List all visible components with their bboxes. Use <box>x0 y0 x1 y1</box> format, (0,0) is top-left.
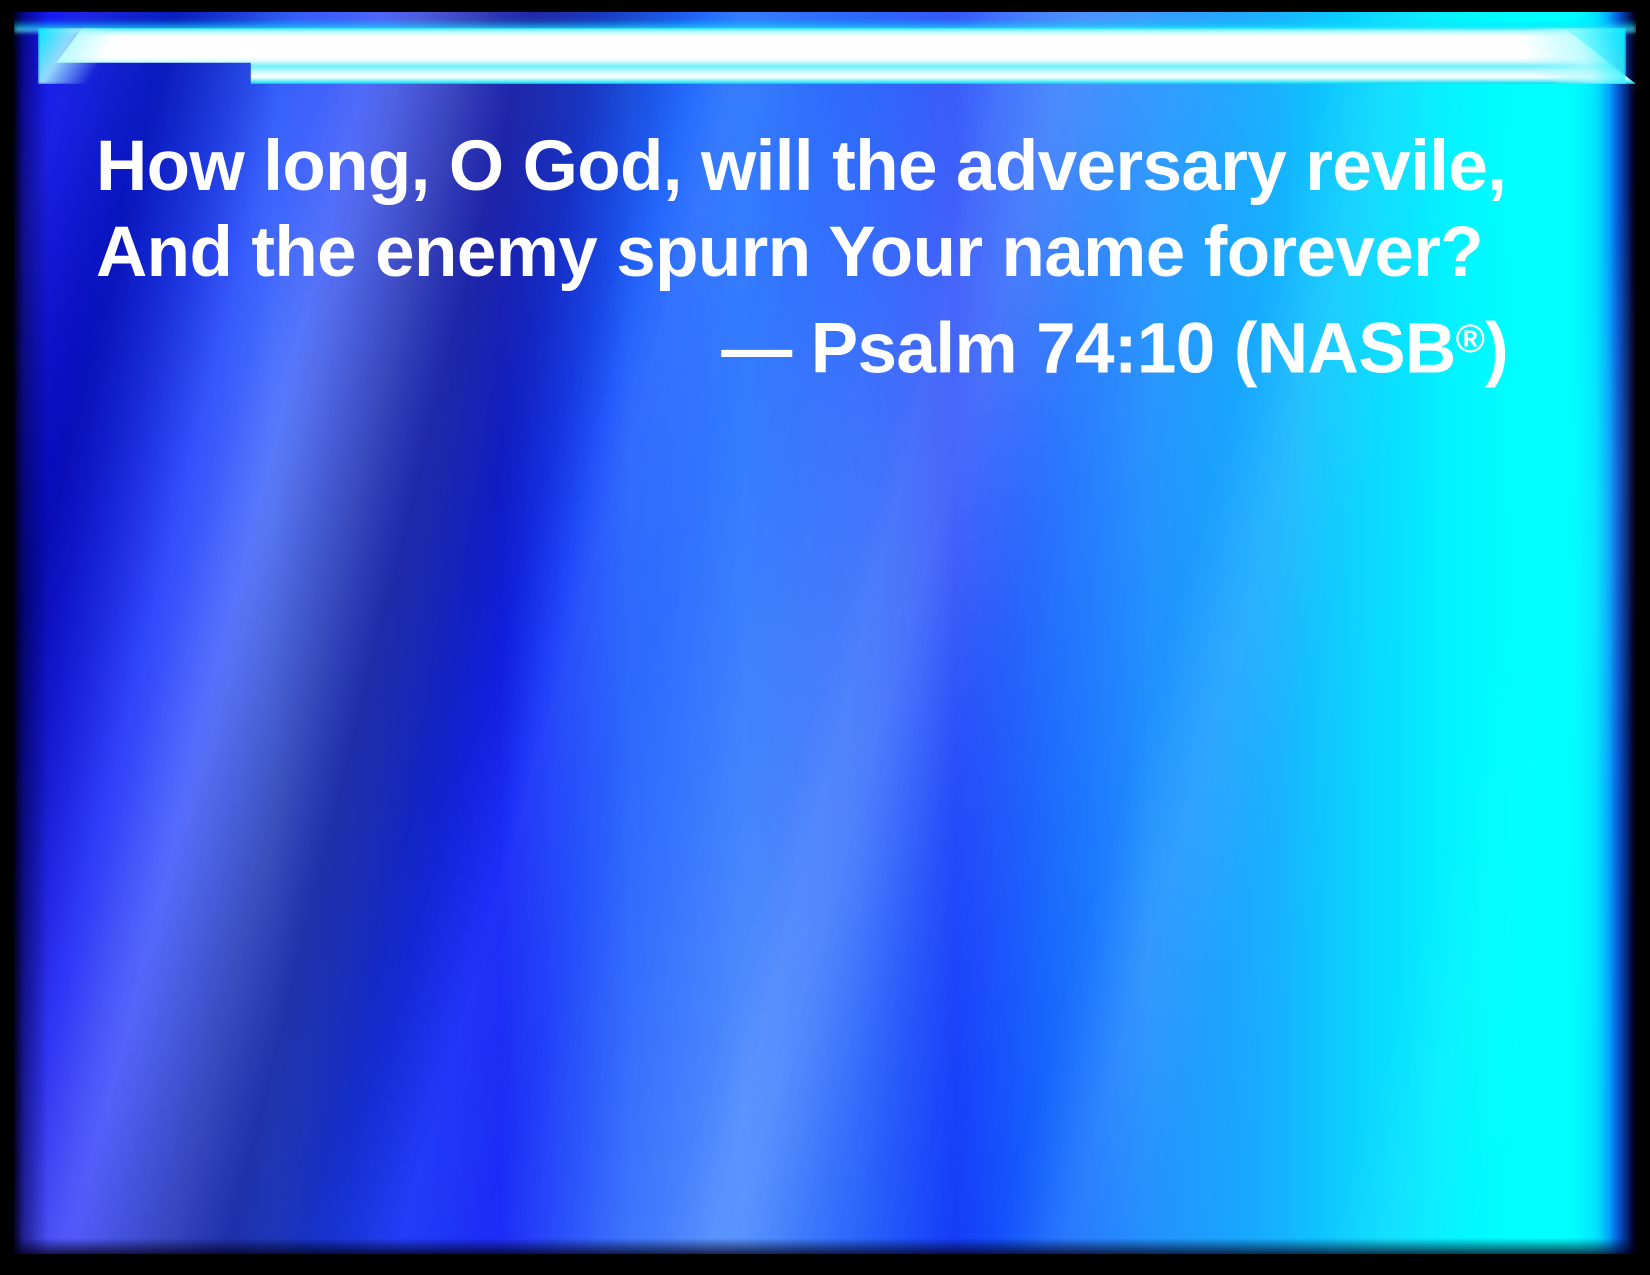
bible-verse-slide: How long, O God, will the adversary revi… <box>0 0 1650 1275</box>
verse-line-1: How long, O God, will the adversary revi… <box>96 124 1556 210</box>
citation-reference-text: — Psalm 74:10 (NASB <box>721 310 1455 389</box>
banner-white-strip <box>14 28 1636 84</box>
top-decorative-banner <box>14 12 1636 84</box>
registered-trademark-icon: ® <box>1456 317 1485 361</box>
verse-line-2: And the enemy spurn Your name forever? <box>96 210 1556 296</box>
banner-cyan-glow <box>14 20 1636 32</box>
citation-closing-paren: ) <box>1485 310 1508 389</box>
slide-canvas: How long, O God, will the adversary revi… <box>14 12 1636 1254</box>
verse-citation: — Psalm 74:10 (NASB®) <box>96 296 1556 393</box>
banner-right-cyan-wedge <box>1446 28 1626 84</box>
banner-left-cyan-wedge <box>38 28 178 84</box>
verse-text-block: How long, O God, will the adversary revi… <box>96 124 1556 393</box>
